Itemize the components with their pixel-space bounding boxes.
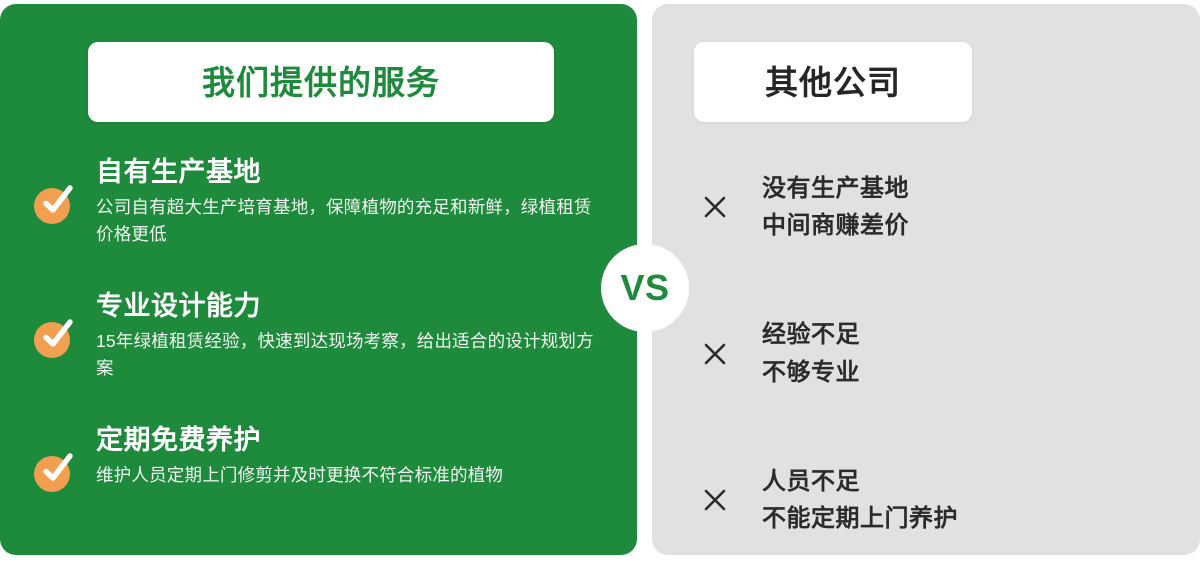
drawback-line-2: 中间商赚差价 xyxy=(762,207,909,244)
feature-title: 专业设计能力 xyxy=(96,290,604,324)
drawback-line-1: 经验不足 xyxy=(762,316,860,353)
our-services-feature-list: 自有生产基地 公司自有超大生产培育基地，保障植物的充足和新鲜，绿植租赁价格更低 … xyxy=(34,156,604,492)
vs-badge: VS xyxy=(601,244,689,332)
our-services-heading: 我们提供的服务 xyxy=(202,66,440,99)
check-circle-icon xyxy=(34,456,70,492)
our-services-header-pill: 我们提供的服务 xyxy=(88,42,554,122)
drawback-item: 没有生产基地 中间商赚差价 xyxy=(700,170,1150,244)
drawback-line-1: 人员不足 xyxy=(762,463,958,500)
other-companies-header-pill: 其他公司 xyxy=(694,42,972,122)
check-circle-icon xyxy=(34,188,70,224)
feature-item: 自有生产基地 公司自有超大生产培育基地，保障植物的充足和新鲜，绿植租赁价格更低 xyxy=(34,156,604,248)
feature-description: 公司自有超大生产培育基地，保障植物的充足和新鲜，绿植租赁价格更低 xyxy=(96,194,604,248)
feature-title: 定期免费养护 xyxy=(96,424,604,458)
feature-item: 定期免费养护 维护人员定期上门修剪并及时更换不符合标准的植物 xyxy=(34,424,604,492)
cross-icon xyxy=(700,339,730,369)
our-services-panel: 我们提供的服务 自有生产基地 公司自有超大生产培育基地，保障植物的充足和新鲜，绿… xyxy=(0,4,637,555)
drawback-line-1: 没有生产基地 xyxy=(762,170,909,207)
cross-icon xyxy=(700,485,730,515)
feature-description: 15年绿植租赁经验，快速到达现场考察，给出适合的设计规划方案 xyxy=(96,328,604,382)
check-circle-icon xyxy=(34,322,70,358)
drawback-line-2: 不能定期上门养护 xyxy=(762,500,958,537)
other-companies-heading: 其他公司 xyxy=(765,66,901,99)
drawback-item: 经验不足 不够专业 xyxy=(700,316,1150,390)
feature-title: 自有生产基地 xyxy=(96,156,604,190)
vs-label: VS xyxy=(620,270,669,306)
other-companies-drawback-list: 没有生产基地 中间商赚差价 经验不足 不够专业 人员不足 xyxy=(700,170,1150,537)
feature-item: 专业设计能力 15年绿植租赁经验，快速到达现场考察，给出适合的设计规划方案 xyxy=(34,290,604,382)
drawback-line-2: 不够专业 xyxy=(762,354,860,391)
comparison-infographic: 我们提供的服务 自有生产基地 公司自有超大生产培育基地，保障植物的充足和新鲜，绿… xyxy=(0,0,1200,563)
drawback-item: 人员不足 不能定期上门养护 xyxy=(700,463,1150,537)
feature-description: 维护人员定期上门修剪并及时更换不符合标准的植物 xyxy=(96,462,604,489)
cross-icon xyxy=(700,192,730,222)
